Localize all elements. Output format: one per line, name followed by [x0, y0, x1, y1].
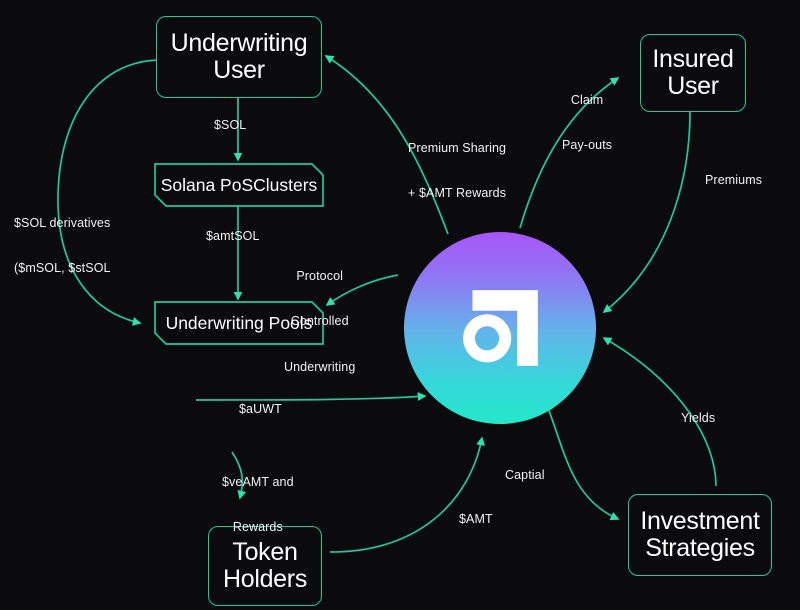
label-amt: $AMT [459, 512, 493, 527]
label-auwt: $aUWT [239, 402, 282, 417]
amulet-logo-icon [457, 285, 543, 371]
label-claim-payouts-line2: Pay-outs [562, 138, 612, 153]
node-investment-strategies-line1: Investment [640, 508, 759, 536]
node-underwriting-user-label: Underwriting User [171, 30, 308, 85]
node-insured-user-line2: User [652, 73, 733, 101]
label-captial: Captial [505, 468, 545, 483]
node-insured-user-line1: Insured [652, 46, 733, 74]
node-token-holders-line2: Holders [223, 566, 307, 594]
edge-amt [330, 438, 482, 552]
label-sol: $SOL [214, 118, 246, 133]
label-sol-derivatives-line2: ($mSOL, $stSOL [14, 261, 111, 276]
label-amtsol: $amtSOL [206, 229, 260, 244]
node-investment-strategies-line2: Strategies [640, 535, 759, 563]
label-claim-payouts-line1: Claim [562, 93, 612, 108]
label-yields: Yields [681, 411, 715, 426]
node-underwriting-user-line1: Underwriting [171, 30, 308, 58]
label-sol-derivatives-line1: $SOL derivatives [14, 216, 111, 231]
node-underwriting-user-line2: User [171, 57, 308, 85]
node-insured-user[interactable]: Insured User [640, 34, 746, 112]
amulet-logo-circle [404, 232, 596, 424]
edge-captial [545, 400, 618, 519]
label-pcu-line1: Protocol [284, 269, 355, 284]
label-veamt-line2: Rewards [222, 520, 294, 535]
node-underwriting-pools-label: Underwriting Pools [154, 313, 324, 333]
node-investment-strategies-label: Investment Strategies [640, 508, 759, 563]
label-premium-sharing: Premium Sharing + $AMT Rewards [408, 110, 506, 232]
protocol-flow-diagram: Underwriting User Solana PoSClusters Und… [0, 0, 800, 610]
node-investment-strategies[interactable]: Investment Strategies [628, 494, 772, 576]
label-premium-sharing-line1: Premium Sharing [408, 141, 506, 156]
label-premiums: Premiums [705, 173, 762, 188]
edge-premiums [604, 112, 690, 312]
node-insured-user-label: Insured User [652, 46, 733, 101]
node-underwriting-user[interactable]: Underwriting User [156, 16, 322, 98]
node-solana-posclusters-label: Solana PoSClusters [154, 175, 324, 195]
label-veamt-line1: $veAMT and [222, 475, 294, 490]
label-sol-derivatives: $SOL derivatives ($mSOL, $stSOL [14, 185, 111, 307]
label-pcu-line3: Underwriting [284, 360, 355, 375]
node-solana-posclusters[interactable]: Solana PoSClusters [154, 163, 324, 207]
label-claim-payouts: Claim Pay-outs [562, 62, 612, 184]
label-premium-sharing-line2: + $AMT Rewards [408, 186, 506, 201]
label-veamt-rewards: $veAMT and Rewards [222, 444, 294, 566]
